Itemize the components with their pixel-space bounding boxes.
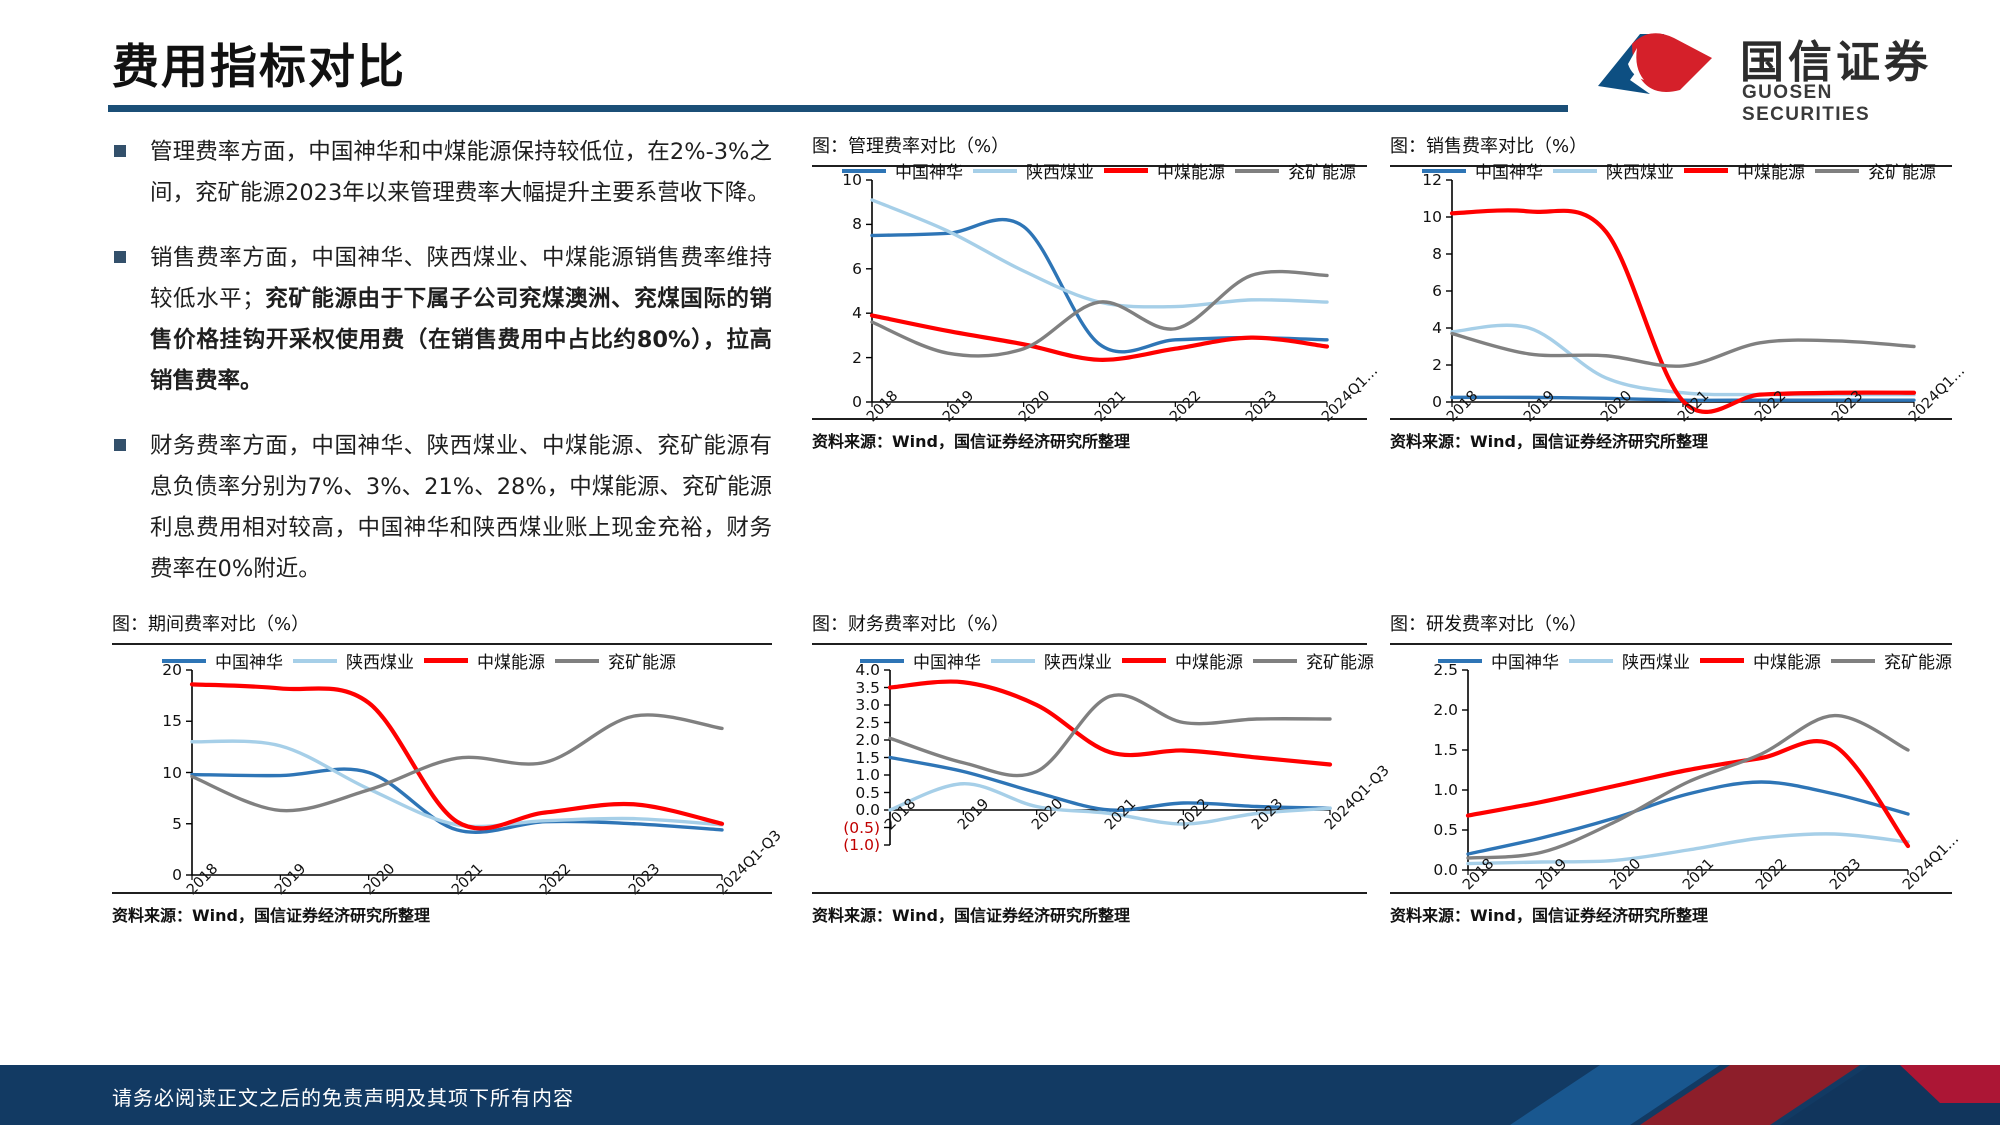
y-axis-label: 2.5 — [1433, 661, 1458, 679]
chart-panel-financial-expense-ratio: 图：财务费率对比（%）中国神华陕西煤业中煤能源兖矿能源(1.0)(0.5)0.0… — [812, 610, 1367, 930]
series-line-陕西煤业 — [192, 741, 722, 826]
chart-panel-selling-expense-ratio: 图：销售费率对比（%）中国神华陕西煤业中煤能源兖矿能源0246810122018… — [1390, 132, 1952, 452]
bullet-text: 管理费率方面，中国神华和中煤能源保持较低位，在2%-3%之间，兖矿能源2023年… — [150, 132, 772, 214]
y-axis-label: 5 — [172, 815, 182, 833]
y-axis-label: 0.0 — [1433, 861, 1458, 879]
chart-plot-area: (1.0)(0.5)0.00.51.01.52.02.53.03.54.0201… — [812, 610, 1367, 888]
bullet-square-icon — [114, 251, 126, 263]
chart-source-note: 资料来源：Wind，国信证券经济研究所整理 — [812, 428, 1130, 452]
series-line-中煤能源 — [872, 315, 1327, 359]
y-axis-label: 0 — [1432, 393, 1442, 411]
logo-english-name: GUOSEN SECURITIES — [1742, 82, 1958, 126]
chart-svg — [112, 610, 772, 888]
chart-svg — [1390, 132, 1952, 414]
chart-source-rule — [812, 892, 1367, 894]
guosen-logo-icon — [1588, 28, 1728, 100]
series-line-中国神华 — [872, 220, 1327, 352]
bullet-text-segment: 财务费率方面，中国神华、陕西煤业、中煤能源、兖矿能源有息负债率分别为7%、3%、… — [150, 433, 772, 582]
series-line-兖矿能源 — [890, 695, 1330, 776]
chart-plot-area: 051015202018201920202021202220232024Q1-Q… — [112, 610, 772, 888]
y-axis-label: 1.0 — [1433, 781, 1458, 799]
y-axis-label: 0 — [172, 866, 182, 884]
chart-panel-admin-expense-ratio: 图：管理费率对比（%）中国神华陕西煤业中煤能源兖矿能源0246810201820… — [812, 132, 1367, 452]
chart-svg — [812, 610, 1367, 888]
y-axis-label: 0.0 — [855, 801, 880, 819]
y-axis-label: 8 — [1432, 245, 1442, 263]
chart-source-note: 资料来源：Wind，国信证券经济研究所整理 — [112, 902, 430, 926]
y-axis-label: 0.5 — [855, 784, 880, 802]
y-axis-label: 0 — [852, 393, 862, 411]
page-header: 费用指标对比 国信证券 GUOSEN SECURITIES — [0, 0, 2000, 122]
y-axis-label: 3.0 — [855, 696, 880, 714]
series-line-中煤能源 — [192, 684, 722, 828]
company-logo: 国信证券 GUOSEN SECURITIES — [1588, 24, 1958, 110]
y-axis-label: 20 — [162, 661, 182, 679]
bullet-square-icon — [114, 145, 126, 157]
y-axis-label: 2.5 — [855, 714, 880, 732]
y-axis-label: 4.0 — [855, 661, 880, 679]
y-axis-label: 8 — [852, 215, 862, 233]
series-line-兖矿能源 — [192, 715, 722, 811]
y-axis-label: 6 — [1432, 282, 1442, 300]
chart-plot-area: 0.00.51.01.52.02.52018201920202021202220… — [1390, 610, 1952, 888]
y-axis-label: 10 — [1422, 208, 1442, 226]
y-axis-label: 2 — [852, 349, 862, 367]
chart-source-rule — [1390, 418, 1952, 420]
chart-svg — [812, 132, 1367, 414]
bullet-square-icon — [114, 439, 126, 451]
bullet-item: 销售费率方面，中国神华、陕西煤业、中煤能源销售费率维持较低水平；兖矿能源由于下属… — [112, 238, 772, 402]
footer-disclaimer: 请务必阅读正文之后的免责声明及其项下所有内容 — [112, 1082, 574, 1111]
y-axis-label: 1.5 — [1433, 741, 1458, 759]
chart-source-rule — [812, 418, 1367, 420]
series-line-中煤能源 — [1452, 210, 1914, 412]
chart-source-note: 资料来源：Wind，国信证券经济研究所整理 — [1390, 428, 1708, 452]
chart-source-rule — [1390, 892, 1952, 894]
series-line-中煤能源 — [890, 682, 1330, 765]
y-axis-label: (1.0) — [843, 836, 880, 854]
y-axis-label: 1.5 — [855, 749, 880, 767]
y-axis-label: 2.0 — [855, 731, 880, 749]
summary-bullets: 管理费率方面，中国神华和中煤能源保持较低位，在2%-3%之间，兖矿能源2023年… — [112, 132, 772, 614]
footer-decoration — [1300, 1065, 2000, 1125]
page-title: 费用指标对比 — [112, 28, 406, 97]
logo-chinese-name: 国信证券 — [1740, 26, 1932, 90]
bullet-text: 财务费率方面，中国神华、陕西煤业、中煤能源、兖矿能源有息负债率分别为7%、3%、… — [150, 426, 772, 590]
chart-plot-area: 02468102018201920202021202220232024Q1… — [812, 132, 1367, 414]
y-axis-label: 1.0 — [855, 766, 880, 784]
chart-source-note: 资料来源：Wind，国信证券经济研究所整理 — [1390, 902, 1708, 926]
chart-plot-area: 0246810122018201920202021202220232024Q1… — [1390, 132, 1952, 414]
series-line-陕西煤业 — [872, 200, 1327, 307]
chart-panel-rnd-expense-ratio: 图：研发费率对比（%）中国神华陕西煤业中煤能源兖矿能源0.00.51.01.52… — [1390, 610, 1952, 930]
y-axis-label: 15 — [162, 712, 182, 730]
y-axis-label: 2.0 — [1433, 701, 1458, 719]
bullet-item: 管理费率方面，中国神华和中煤能源保持较低位，在2%-3%之间，兖矿能源2023年… — [112, 132, 772, 214]
series-line-兖矿能源 — [1468, 716, 1908, 858]
series-line-陕西煤业 — [1452, 325, 1914, 395]
y-axis-label: 0.5 — [1433, 821, 1458, 839]
chart-source-rule — [112, 892, 772, 894]
series-line-兖矿能源 — [1452, 334, 1914, 367]
y-axis-label: 10 — [162, 764, 182, 782]
bullet-text: 销售费率方面，中国神华、陕西煤业、中煤能源销售费率维持较低水平；兖矿能源由于下属… — [150, 238, 772, 402]
page-footer: 请务必阅读正文之后的免责声明及其项下所有内容 — [0, 1065, 2000, 1125]
chart-svg — [1390, 610, 1952, 888]
title-underline — [108, 105, 1568, 112]
y-axis-label: 2 — [1432, 356, 1442, 374]
bullet-item: 财务费率方面，中国神华、陕西煤业、中煤能源、兖矿能源有息负债率分别为7%、3%、… — [112, 426, 772, 590]
y-axis-label: 6 — [852, 260, 862, 278]
y-axis-label: 12 — [1422, 171, 1442, 189]
y-axis-label: (0.5) — [843, 819, 880, 837]
y-axis-label: 4 — [852, 304, 862, 322]
chart-panel-period-expense-ratio: 图：期间费率对比（%）中国神华陕西煤业中煤能源兖矿能源0510152020182… — [112, 610, 772, 930]
bullet-text-segment: 管理费率方面，中国神华和中煤能源保持较低位，在2%-3%之间，兖矿能源2023年… — [150, 139, 772, 206]
y-axis-label: 10 — [842, 171, 862, 189]
chart-source-note: 资料来源：Wind，国信证券经济研究所整理 — [812, 902, 1130, 926]
y-axis-label: 3.5 — [855, 679, 880, 697]
y-axis-label: 4 — [1432, 319, 1442, 337]
series-line-中国神华 — [1468, 782, 1908, 854]
